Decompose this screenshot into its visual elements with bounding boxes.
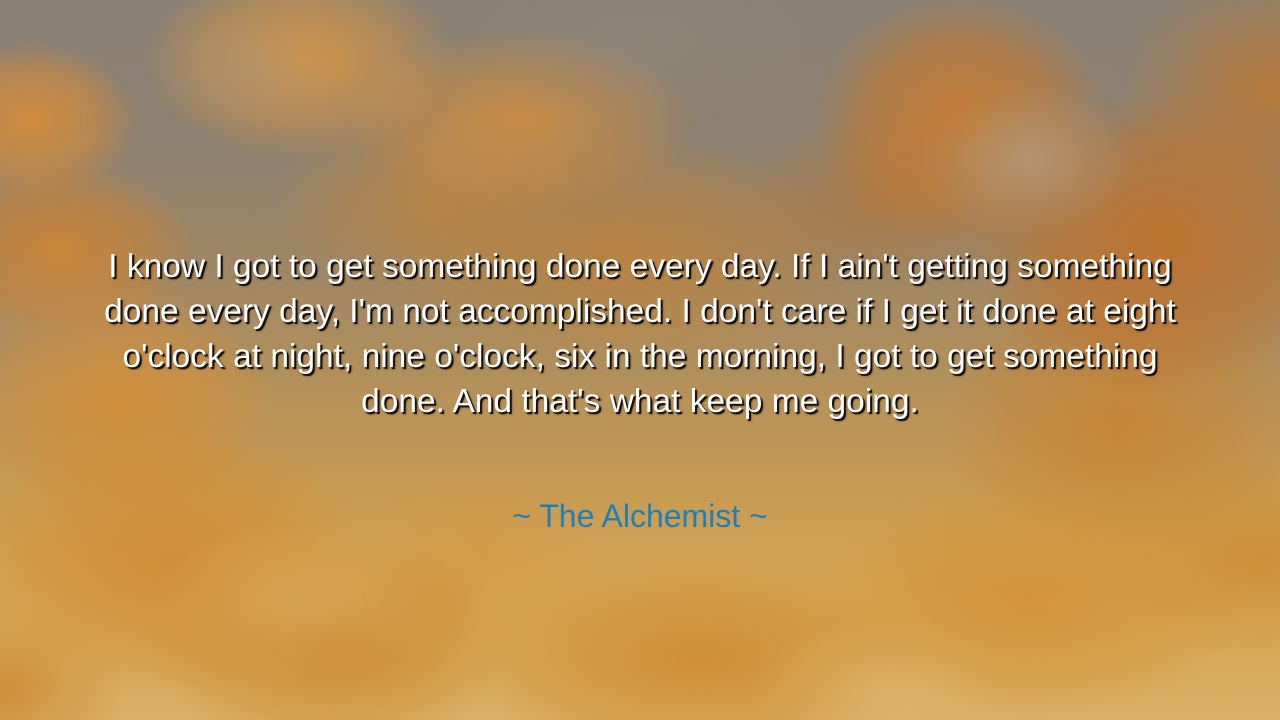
quote-card: I know I got to get something done every… — [0, 0, 1280, 720]
quote-text: I know I got to get something done every… — [104, 244, 1176, 424]
quote-attribution: ~ The Alchemist ~ — [0, 496, 1280, 536]
quote-container: I know I got to get something done every… — [0, 244, 1280, 424]
